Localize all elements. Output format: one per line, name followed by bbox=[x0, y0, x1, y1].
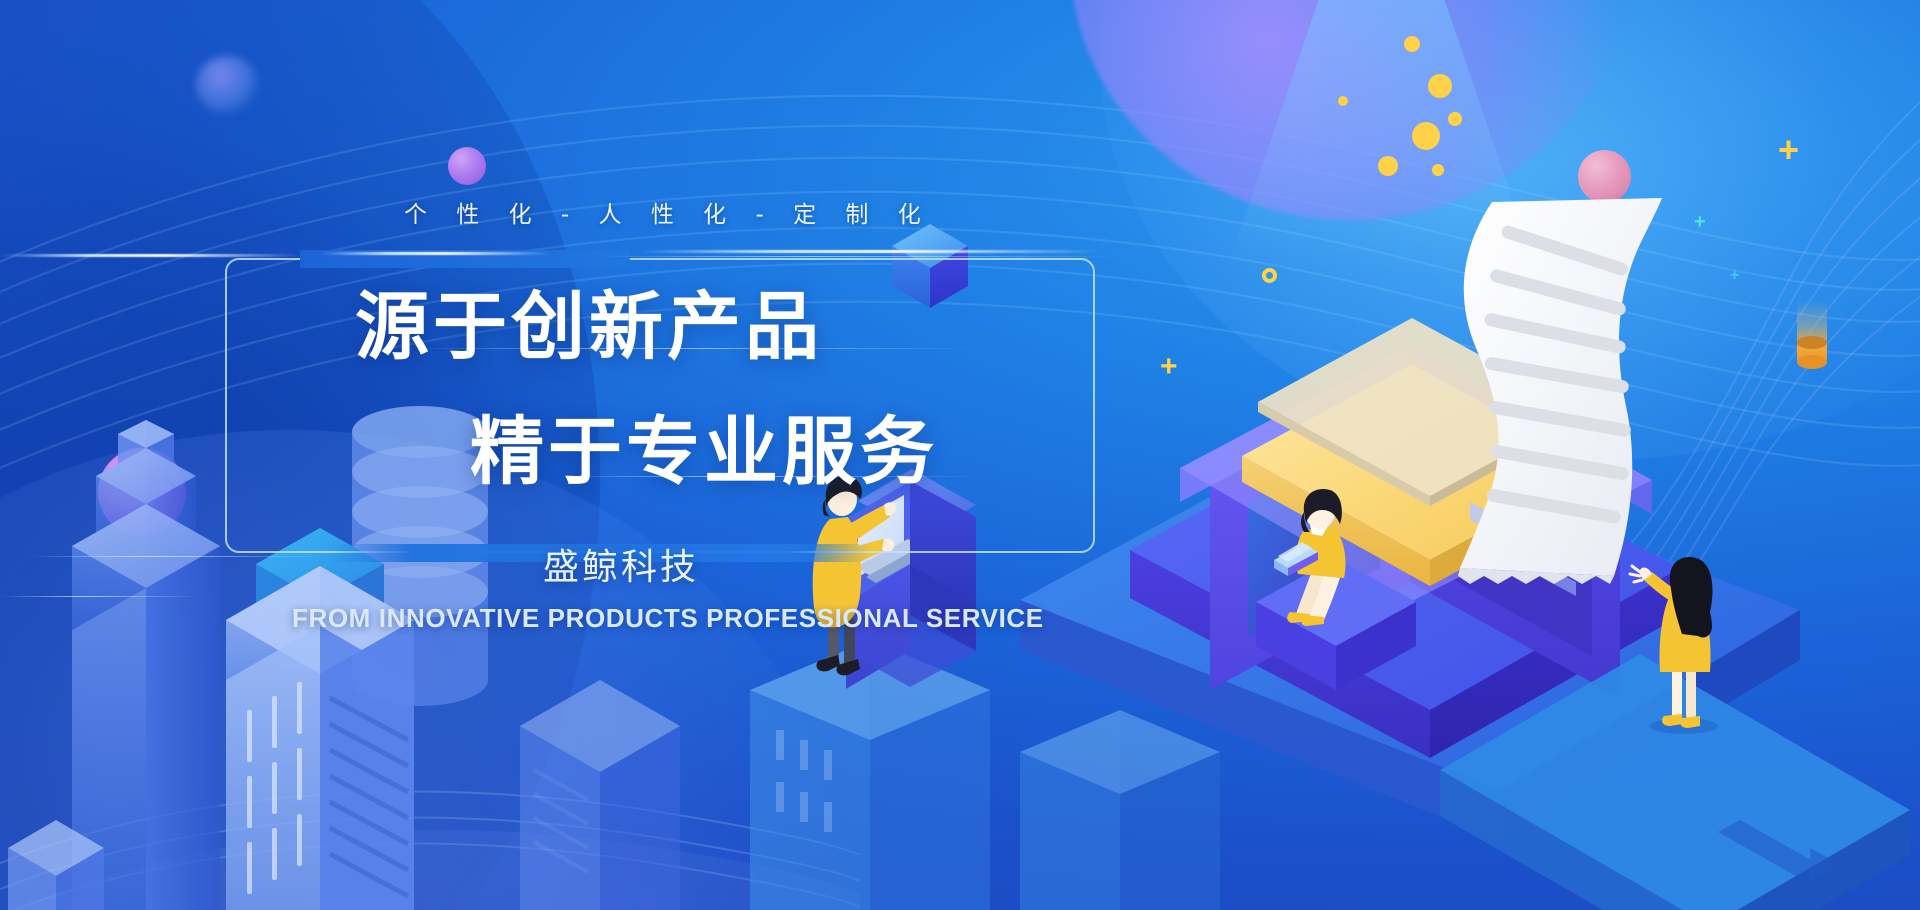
accent-dot-1 bbox=[1404, 36, 1420, 52]
light-streak-3 bbox=[600, 256, 1120, 257]
headline-line-1: 源于创新产品 bbox=[355, 290, 823, 364]
light-streak-4 bbox=[640, 250, 1100, 253]
light-streak-7 bbox=[30, 556, 330, 557]
hero-banner: + + + + 个 性 化 - 人 性 化 - 定 制 化 源于创新产品 精于专… bbox=[0, 0, 1920, 910]
accent-dot-3 bbox=[1338, 96, 1348, 106]
company-name: 盛鲸科技 bbox=[543, 538, 699, 590]
seated-woman-laptop bbox=[1260, 478, 1390, 638]
accent-dot-6 bbox=[1432, 164, 1444, 176]
tagline-english: FROM INNOVATIVE PRODUCTS PROFESSIONAL SE… bbox=[292, 603, 1044, 634]
hero-text-block: 个 性 化 - 人 性 化 - 定 制 化 源于创新产品 精于专业服务 盛鲸科技… bbox=[0, 0, 1100, 910]
light-streak-1 bbox=[0, 254, 300, 257]
accent-plus-icon-4: + bbox=[1730, 268, 1739, 284]
accent-plus-icon-1: + bbox=[1160, 352, 1178, 382]
accent-ring-icon bbox=[1262, 268, 1277, 283]
accent-plus-icon-2: + bbox=[1778, 132, 1799, 168]
kicker-text: 个 性 化 - 人 性 化 - 定 制 化 bbox=[404, 195, 932, 229]
standing-woman bbox=[1620, 548, 1750, 748]
light-streak-8 bbox=[0, 596, 200, 597]
accent-dot-2 bbox=[1428, 74, 1452, 98]
accent-plus-icon-3: + bbox=[1694, 212, 1706, 232]
headline-line-2: 精于专业服务 bbox=[470, 415, 938, 489]
accent-dot-7 bbox=[1448, 112, 1462, 126]
accent-dot-4 bbox=[1412, 122, 1440, 150]
accent-cylinder bbox=[1797, 300, 1827, 362]
accent-dot-5 bbox=[1378, 156, 1398, 176]
light-streak-2 bbox=[320, 252, 550, 255]
